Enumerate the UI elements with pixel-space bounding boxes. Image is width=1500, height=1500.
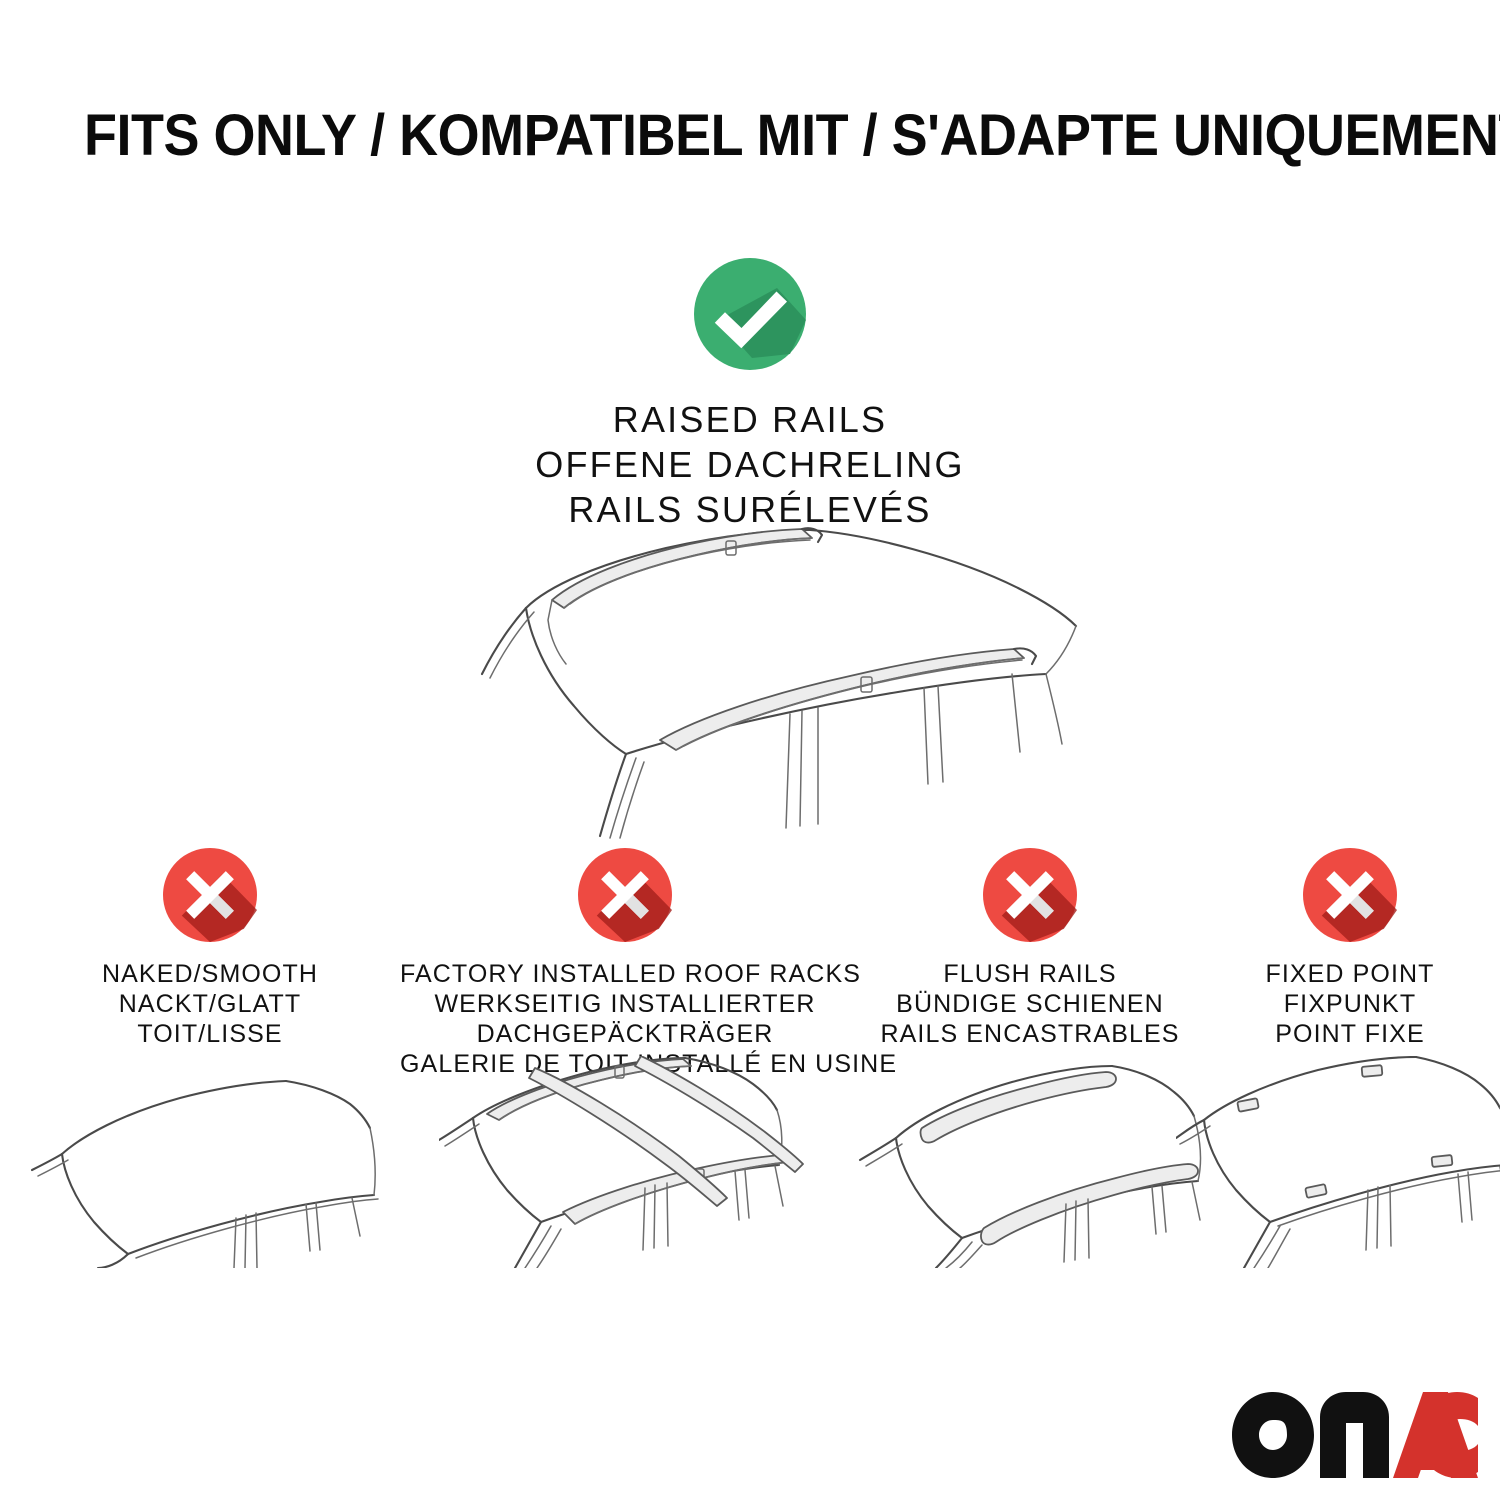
label-line-2: NACKT/GLATT (30, 989, 390, 1019)
label-line-1: FACTORY INSTALLED ROOF RACKS (400, 959, 850, 989)
label-line-2: BÜNDIGE SCHIENEN (855, 989, 1205, 1019)
approved-section: RAISED RAILS OFFENE DACHRELING RAILS SUR… (0, 258, 1500, 532)
approved-label-line-2: OFFENE DACHRELING (0, 442, 1500, 487)
label-line-1: NAKED/SMOOTH (30, 959, 390, 989)
page-title: FITS ONLY / KOMPATIBEL MIT / S'ADAPTE UN… (84, 104, 1330, 168)
car-roof-flush-rails-illustration (844, 1056, 1216, 1268)
label-line-2: WERKSEITIG INSTALLIERTER (400, 989, 850, 1019)
label-line-3: RAILS ENCASTRABLES (855, 1019, 1205, 1049)
x-circle-icon (163, 848, 257, 942)
not-compatible-item-naked-smooth: NAKED/SMOOTH NACKT/GLATT TOIT/LISSE (30, 848, 390, 1049)
approved-label-line-1: RAISED RAILS (0, 397, 1500, 442)
x-circle-icon (1303, 848, 1397, 942)
not-compatible-label: FLUSH RAILS BÜNDIGE SCHIENEN RAILS ENCAS… (855, 959, 1205, 1049)
not-compatible-item-factory-roof-racks: FACTORY INSTALLED ROOF RACKS WERKSEITIG … (400, 848, 850, 1079)
not-compatible-label: FIXED POINT FIXPUNKT POINT FIXE (1205, 959, 1495, 1049)
label-line-1: FIXED POINT (1205, 959, 1495, 989)
label-line-3: POINT FIXE (1205, 1019, 1495, 1049)
car-roof-naked-smooth-illustration (30, 1056, 390, 1268)
not-compatible-label: NAKED/SMOOTH NACKT/GLATT TOIT/LISSE (30, 959, 390, 1049)
not-compatible-item-fixed-point: FIXED POINT FIXPUNKT POINT FIXE (1205, 848, 1495, 1049)
x-circle-icon (983, 848, 1077, 942)
not-compatible-section: NAKED/SMOOTH NACKT/GLATT TOIT/LISSE (0, 848, 1500, 1288)
check-circle-icon (694, 258, 806, 370)
label-line-1: FLUSH RAILS (855, 959, 1205, 989)
label-line-3: TOIT/LISSE (30, 1019, 390, 1049)
label-line-2: FIXPUNKT (1205, 989, 1495, 1019)
omac-logo (1232, 1392, 1478, 1478)
not-compatible-item-flush-rails: FLUSH RAILS BÜNDIGE SCHIENEN RAILS ENCAS… (855, 848, 1205, 1049)
car-roof-factory-racks-illustration (439, 1056, 811, 1268)
car-roof-raised-rails-illustration (398, 508, 1104, 840)
x-circle-icon (578, 848, 672, 942)
car-roof-fixed-point-illustration (1176, 1056, 1500, 1268)
label-line-3: DACHGEPÄCKTRÄGER (400, 1019, 850, 1049)
